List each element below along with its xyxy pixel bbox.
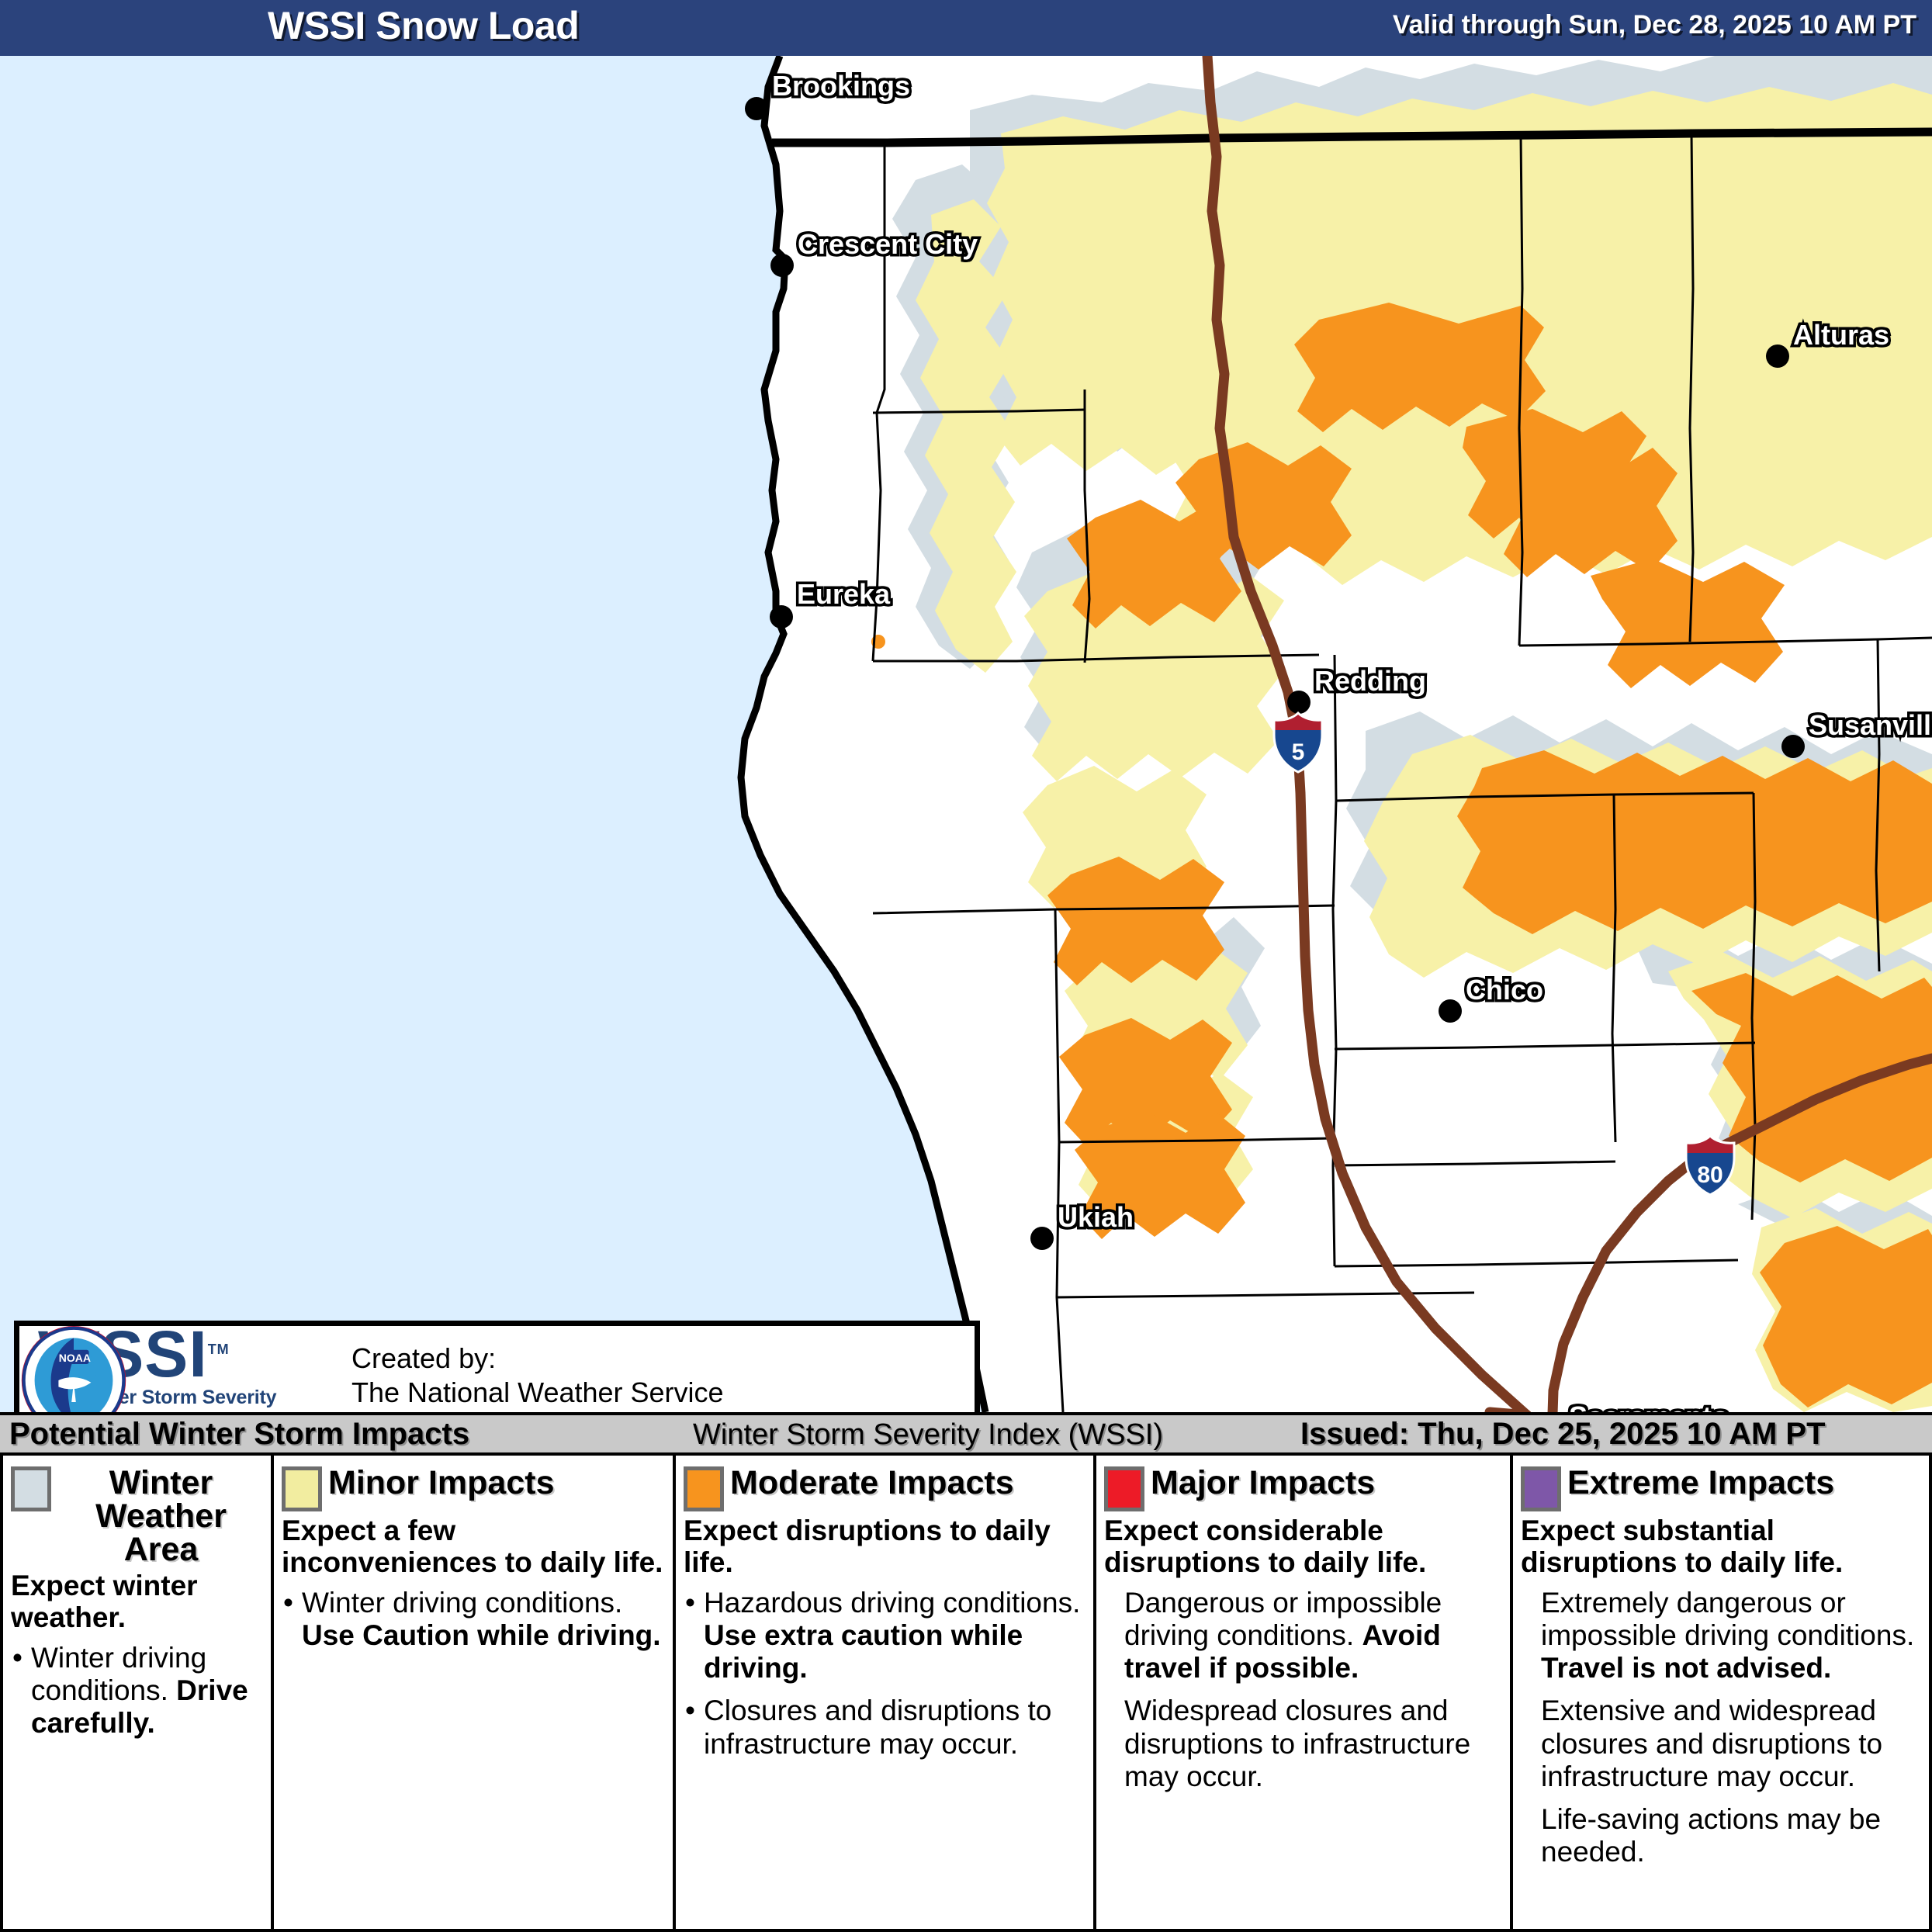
legend-column-winter-weather-area: WinterWeatherAreaExpect winter weather.W… — [3, 1456, 271, 1929]
city-label: Chico — [1466, 974, 1543, 1006]
city-label: Alturas — [1793, 319, 1889, 351]
legend-summary: Expect disruptions to daily life. — [684, 1515, 1087, 1579]
legend-column-minor-impacts: Minor ImpactsExpect a few inconveniences… — [271, 1456, 673, 1929]
legend-summary: Expect substantial disruptions to daily … — [1521, 1515, 1923, 1579]
legend-bullet-item: Extremely dangerous or impossible drivin… — [1521, 1587, 1923, 1685]
valid-through-text: Valid through Sun, Dec 28, 2025 10 AM PT — [1393, 10, 1916, 40]
legend-bullet-list: Winter driving conditions. Use Caution w… — [282, 1587, 667, 1652]
city-label: Ukiah — [1058, 1201, 1134, 1234]
legend-summary: Expect considerable disruptions to daily… — [1104, 1515, 1504, 1579]
city-label: Redding — [1314, 665, 1426, 698]
status-bar-right: Issued: Thu, Dec 25, 2025 10 AM PT — [1300, 1417, 1826, 1452]
legend-summary: Expect winter weather. — [11, 1570, 265, 1634]
noaa-seal-icon: NOAA — [19, 1326, 128, 1412]
legend-column-major-impacts: Major ImpactsExpect considerable disrupt… — [1093, 1456, 1510, 1929]
legend-bullet-item: Life-saving actions may be needed. — [1521, 1803, 1923, 1868]
interstate-shield-5: 5 — [1269, 712, 1327, 774]
wssi-snow-load-page: WSSI Snow Load Valid through Sun, Dec 28… — [0, 0, 1932, 1932]
city-label: Eureka — [797, 578, 890, 611]
svg-text:80: 80 — [1697, 1162, 1723, 1188]
created-by-label: Created by: — [351, 1342, 724, 1376]
city-dot — [770, 605, 793, 628]
created-by-block: Created by: The National Weather Service… — [351, 1342, 724, 1412]
legend-color-swatch — [11, 1466, 51, 1511]
legend-header: Major Impacts — [1104, 1466, 1504, 1511]
legend-category-name: Major Impacts — [1151, 1466, 1375, 1500]
agency-line-1: The National Weather Service — [351, 1376, 724, 1410]
city-label: Susanville — [1809, 709, 1932, 742]
legend-bullet-list: Hazardous driving conditions. Use extra … — [684, 1587, 1087, 1761]
legend-bullet-list: Winter driving conditions. Drive careful… — [11, 1642, 265, 1740]
legend-color-swatch — [684, 1466, 724, 1511]
interstate-shield-80: 80 — [1681, 1134, 1739, 1196]
wssi-logo-box: WSSITM The Winter Storm Severity Index N… — [14, 1321, 980, 1412]
svg-text:5: 5 — [1292, 739, 1305, 765]
status-bar-center: Winter Storm Severity Index (WSSI) — [693, 1418, 1163, 1452]
status-bar: Potential Winter Storm Impacts Winter St… — [0, 1412, 1932, 1456]
page-header: WSSI Snow Load Valid through Sun, Dec 28… — [0, 0, 1932, 56]
city-dot — [1287, 691, 1311, 714]
legend-header: Moderate Impacts — [684, 1466, 1087, 1511]
city-dot — [1781, 735, 1805, 758]
legend-category-name: Minor Impacts — [328, 1466, 555, 1500]
impact-legend: WinterWeatherAreaExpect winter weather.W… — [0, 1456, 1932, 1932]
city-dot — [1030, 1227, 1054, 1250]
city-label: Sacramento — [1569, 1401, 1729, 1412]
legend-color-swatch — [1521, 1466, 1561, 1511]
legend-bullet-item: Winter driving conditions. Drive careful… — [11, 1642, 265, 1740]
svg-text:NOAA: NOAA — [59, 1352, 91, 1364]
legend-header: Minor Impacts — [282, 1466, 667, 1511]
legend-header: Extreme Impacts — [1521, 1466, 1923, 1511]
trademark-symbol: TM — [208, 1342, 230, 1357]
legend-category-name: Extreme Impacts — [1567, 1466, 1834, 1500]
legend-column-extreme-impacts: Extreme ImpactsExpect substantial disrup… — [1510, 1456, 1929, 1929]
city-label: Crescent City — [798, 228, 978, 261]
legend-bullet-item: Extensive and widespread closures and di… — [1521, 1695, 1923, 1793]
legend-bullet-item: Winter driving conditions. Use Caution w… — [282, 1587, 667, 1652]
page-title: WSSI Snow Load — [268, 3, 579, 48]
legend-category-name: Moderate Impacts — [730, 1466, 1014, 1500]
legend-bullet-list: Extremely dangerous or impossible drivin… — [1521, 1587, 1923, 1868]
legend-color-swatch — [282, 1466, 322, 1511]
legend-bullet-item: Widespread closures and disruptions to i… — [1104, 1695, 1504, 1793]
status-bar-left: Potential Winter Storm Impacts — [9, 1417, 469, 1452]
legend-color-swatch — [1104, 1466, 1144, 1511]
legend-column-moderate-impacts: Moderate ImpactsExpect disruptions to da… — [673, 1456, 1093, 1929]
city-dot — [745, 97, 768, 120]
legend-category-name: WinterWeatherArea — [57, 1466, 265, 1567]
legend-bullet-item: Dangerous or impossible driving conditio… — [1104, 1587, 1504, 1685]
city-dot — [1439, 999, 1462, 1023]
city-dot — [1766, 345, 1789, 368]
legend-bullet-item: Closures and disruptions to infrastructu… — [684, 1695, 1087, 1760]
legend-bullet-item: Hazardous driving conditions. Use extra … — [684, 1587, 1087, 1685]
city-label: Brookings — [772, 70, 910, 102]
wssi-map[interactable]: BrookingsCrescent CityEurekaReddingAltur… — [0, 56, 1932, 1412]
legend-header: WinterWeatherArea — [11, 1466, 265, 1567]
legend-summary: Expect a few inconveniences to daily lif… — [282, 1515, 667, 1579]
city-dot — [770, 254, 794, 277]
legend-bullet-list: Dangerous or impossible driving conditio… — [1104, 1587, 1504, 1793]
